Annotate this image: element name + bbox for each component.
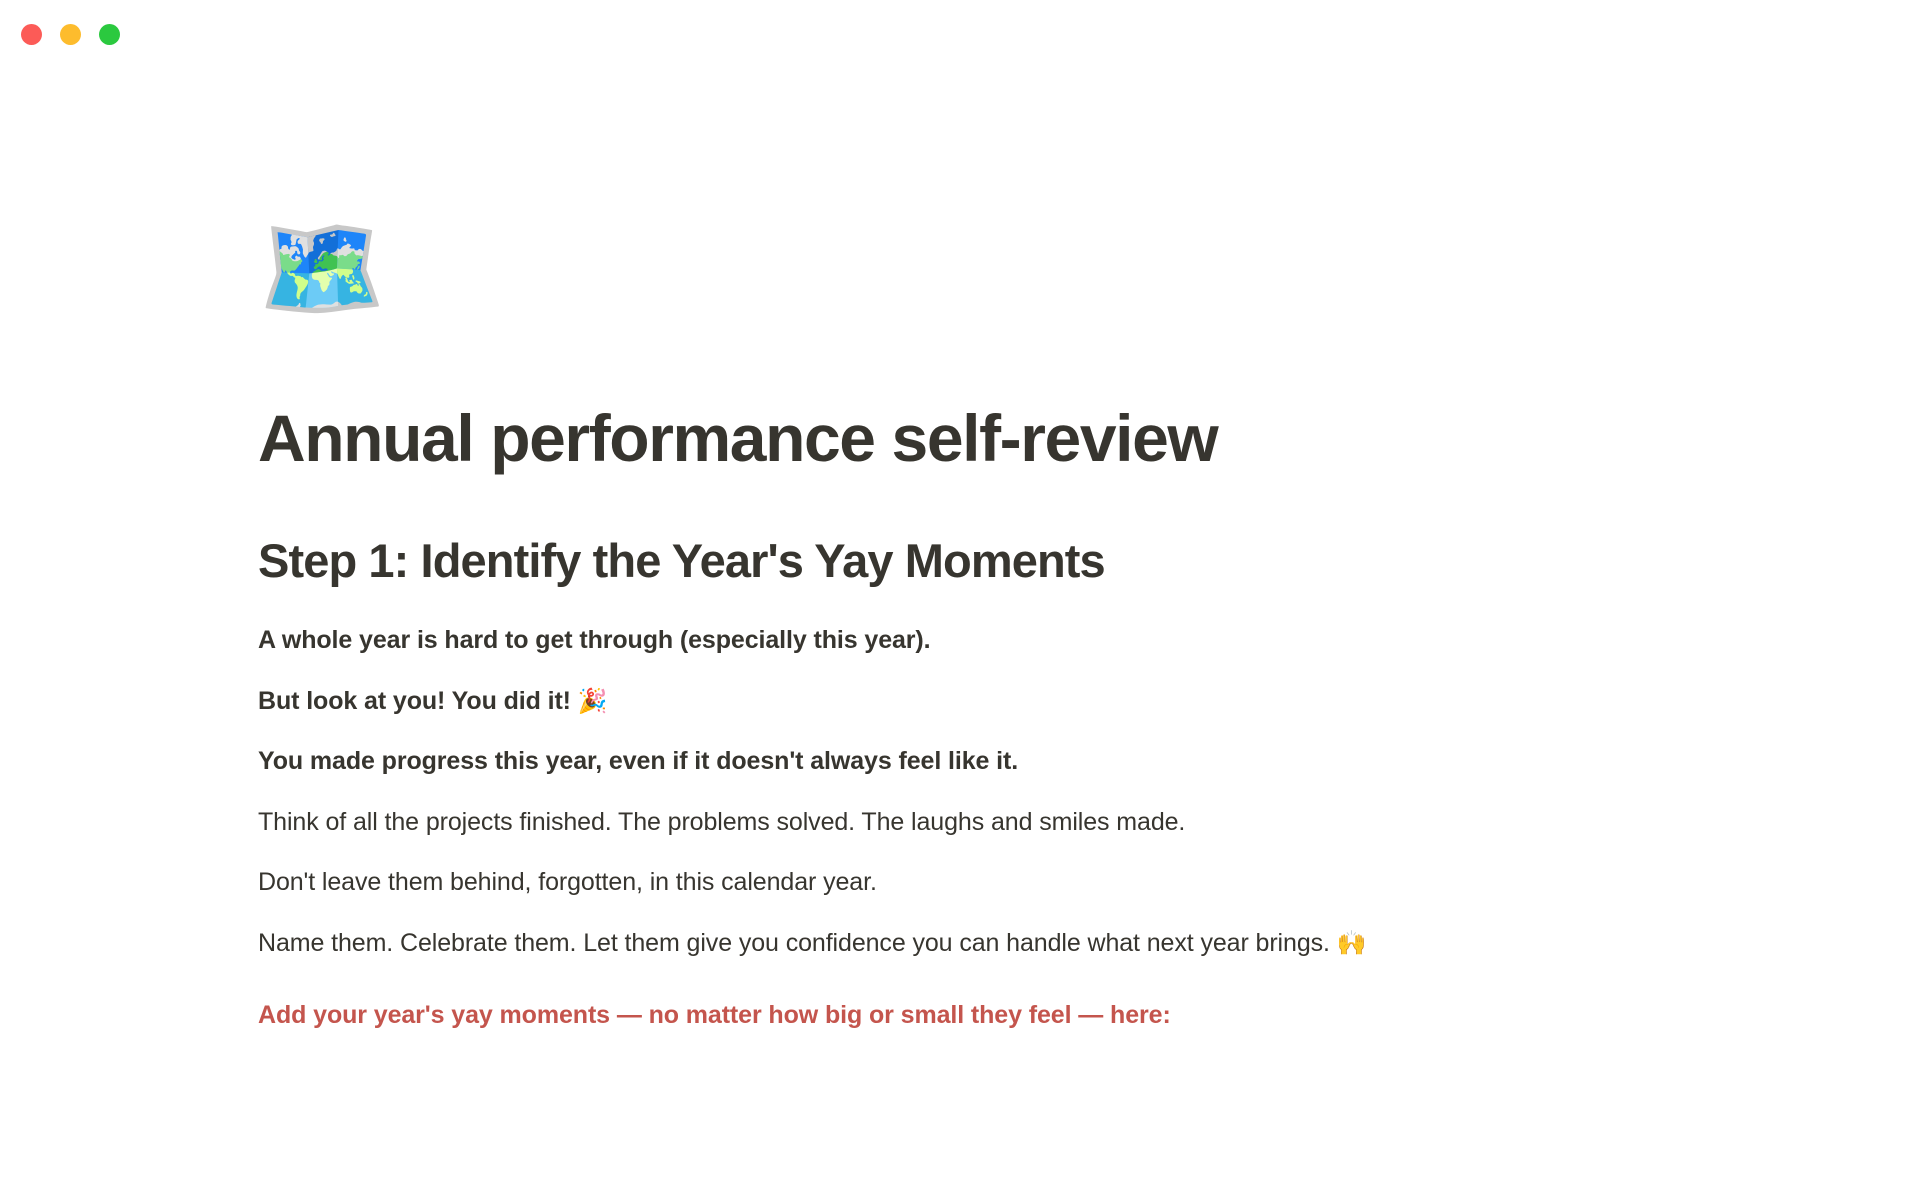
- section-heading-step-1[interactable]: Step 1: Identify the Year's Yay Moments: [258, 533, 1738, 589]
- paragraph-6-text: Name them. Celebrate them. Let them give…: [258, 929, 1337, 957]
- paragraph-5[interactable]: Don't leave them behind, forgotten, in t…: [258, 864, 1738, 902]
- window-title-bar: [0, 0, 1920, 68]
- paragraph-4-text: Think of all the projects finished. The …: [258, 808, 1185, 836]
- traffic-light-group: [21, 24, 120, 45]
- world-map-icon[interactable]: 🗺️: [258, 218, 1738, 340]
- paragraph-1-text: A whole year is hard to get through (esp…: [258, 626, 931, 654]
- raising-hands-icon: 🙌: [1337, 929, 1367, 957]
- paragraph-2-text: But look at you! You did it!: [258, 687, 578, 715]
- party-popper-icon: 🎉: [578, 687, 608, 715]
- paragraph-5-text: Don't leave them behind, forgotten, in t…: [258, 868, 877, 896]
- paragraph-6[interactable]: Name them. Celebrate them. Let them give…: [258, 925, 1738, 963]
- paragraph-3-text: You made progress this year, even if it …: [258, 747, 1018, 775]
- paragraph-4[interactable]: Think of all the projects finished. The …: [258, 804, 1738, 842]
- paragraph-3[interactable]: You made progress this year, even if it …: [258, 743, 1738, 781]
- paragraph-1[interactable]: A whole year is hard to get through (esp…: [258, 622, 1738, 660]
- page-title[interactable]: Annual performance self-review: [258, 402, 1738, 476]
- document-page: 🗺️ Annual performance self-review Step 1…: [0, 68, 1920, 1200]
- close-window-button[interactable]: [21, 24, 42, 45]
- zoom-window-button[interactable]: [99, 24, 120, 45]
- red-callout-paragraph[interactable]: Add your year's yay moments — no matter …: [258, 997, 1738, 1035]
- document-content: 🗺️ Annual performance self-review Step 1…: [258, 68, 1738, 1035]
- minimize-window-button[interactable]: [60, 24, 81, 45]
- paragraph-2[interactable]: But look at you! You did it! 🎉: [258, 683, 1738, 721]
